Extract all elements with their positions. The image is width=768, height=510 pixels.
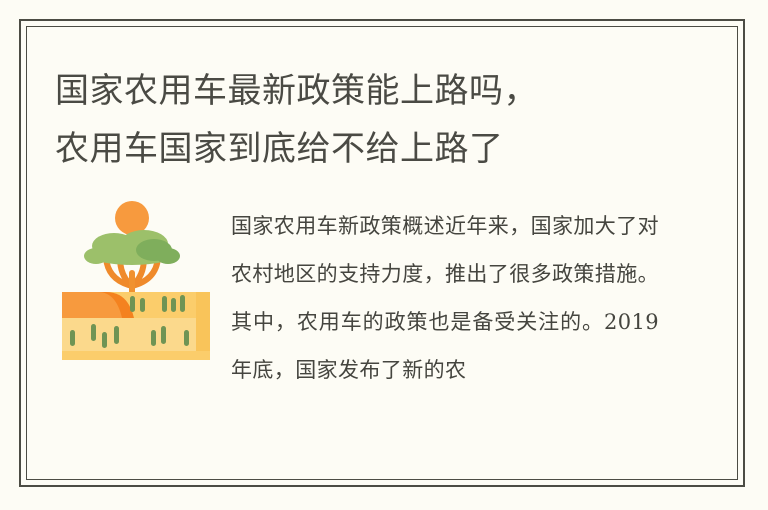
- tree-canopy-icon: [84, 230, 180, 265]
- sun-icon: [115, 201, 149, 235]
- title-line-2: 农用车国家到底给不给上路了: [55, 120, 655, 178]
- article-page: 国家农用车最新政策能上路吗， 农用车国家到底给不给上路了: [0, 0, 768, 510]
- farm-field-illustration: [58, 196, 214, 366]
- page-title: 国家农用车最新政策能上路吗， 农用车国家到底给不给上路了: [55, 62, 655, 178]
- title-line-1: 国家农用车最新政策能上路吗，: [55, 62, 655, 120]
- article-content-row: 国家农用车新政策概述近年来，国家加大了对农村地区的支持力度，推出了很多政策措施。…: [0, 196, 768, 476]
- field-bands: [62, 292, 210, 360]
- article-body-text: 国家农用车新政策概述近年来，国家加大了对农村地区的支持力度，推出了很多政策措施。…: [231, 202, 659, 394]
